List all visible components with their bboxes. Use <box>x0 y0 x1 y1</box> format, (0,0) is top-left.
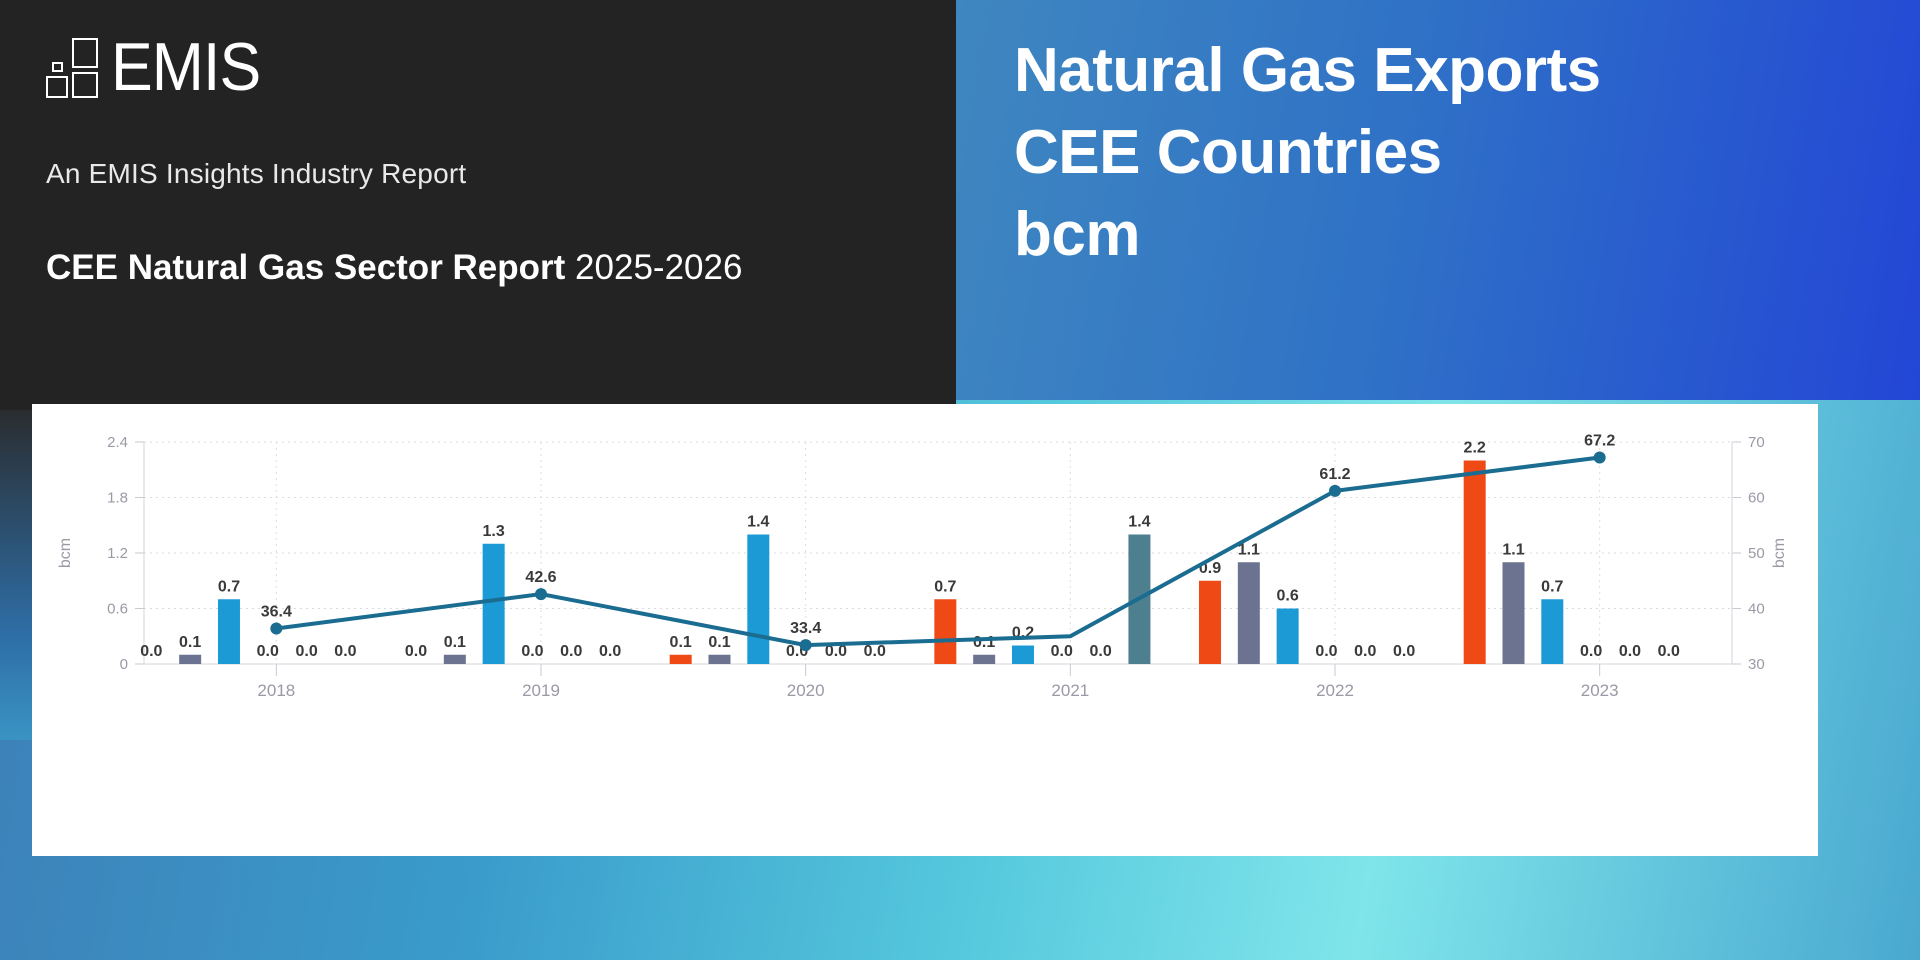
report-title-strong: CEE Natural Gas Sector Report <box>46 248 565 287</box>
chart-card: 00.61.21.82.4304050607020182019202020212… <box>32 404 1818 856</box>
report-title-years: 2025-2026 <box>575 248 742 287</box>
bar-value-label: 0.0 <box>1089 643 1111 660</box>
bar[interactable] <box>1012 646 1034 665</box>
bar-value-label: 0.0 <box>1315 643 1337 660</box>
x-axis-tick-label: 2020 <box>787 681 825 700</box>
bar-value-label: 0.0 <box>1354 643 1376 660</box>
y-axis-right-tick-label: 40 <box>1748 601 1765 618</box>
bar-value-label: 0.0 <box>295 643 317 660</box>
bar[interactable] <box>1277 609 1299 665</box>
line-value-label: 61.2 <box>1319 466 1350 483</box>
line-point[interactable] <box>1329 485 1341 497</box>
chart-plot-area: 00.61.21.82.4304050607020182019202020212… <box>32 414 1818 724</box>
bar[interactable] <box>670 655 692 664</box>
bar-value-label: 0.0 <box>599 643 621 660</box>
x-axis-tick-label: 2021 <box>1051 681 1089 700</box>
bar-value-label: 1.3 <box>483 523 505 540</box>
line-point[interactable] <box>1594 452 1606 464</box>
slide-title-line-2: CEE Countries <box>1014 112 1601 194</box>
bar-value-label: 0.6 <box>1277 588 1299 605</box>
bar-value-label: 0.0 <box>1051 643 1073 660</box>
bar-value-label: 0.0 <box>1393 643 1415 660</box>
bar[interactable] <box>444 655 466 664</box>
bar-value-label: 0.0 <box>1619 643 1641 660</box>
y-axis-right-title: bcm <box>1771 538 1788 568</box>
bar-value-label: 0.1 <box>179 634 201 651</box>
bar-value-label: 0.1 <box>708 634 730 651</box>
bar[interactable] <box>747 535 769 665</box>
chart-svg: 00.61.21.82.4304050607020182019202020212… <box>32 414 1818 744</box>
line-point[interactable] <box>270 622 282 634</box>
x-axis-tick-label: 2022 <box>1316 681 1354 700</box>
bar-value-label: 0.7 <box>934 578 956 595</box>
bar[interactable] <box>1199 581 1221 664</box>
bar-value-label: 0.1 <box>444 634 466 651</box>
bar-value-label: 0.0 <box>560 643 582 660</box>
bar[interactable] <box>1541 599 1563 664</box>
bar-value-label: 1.1 <box>1502 541 1524 558</box>
y-axis-tick-label: 1.8 <box>107 490 128 507</box>
bar-value-label: 0.7 <box>218 578 240 595</box>
y-axis-right-tick-label: 60 <box>1748 490 1765 507</box>
line-point[interactable] <box>800 639 812 651</box>
y-axis-right-tick-label: 70 <box>1748 434 1765 451</box>
bar-value-label: 0.1 <box>973 634 995 651</box>
y-axis-tick-label: 0.6 <box>107 601 128 618</box>
bar-value-label: 0.7 <box>1541 578 1563 595</box>
slide-title: Natural Gas Exports CEE Countries bcm <box>1014 30 1601 275</box>
x-axis-tick-label: 2018 <box>257 681 295 700</box>
bar[interactable] <box>218 599 240 664</box>
bar-value-label: 0.0 <box>864 643 886 660</box>
bar-value-label: 0.0 <box>405 643 427 660</box>
bar[interactable] <box>483 544 505 664</box>
slide-root: EMIS An EMIS Insights Industry Report CE… <box>0 0 1920 960</box>
line-value-label: 36.4 <box>261 603 292 620</box>
line-value-label: 42.6 <box>525 569 556 586</box>
slide-title-line-3: bcm <box>1014 194 1601 276</box>
bar[interactable] <box>179 655 201 664</box>
logo-wordmark: EMIS <box>111 38 260 98</box>
emis-squares-logo-icon <box>46 38 108 98</box>
bar-value-label: 0.0 <box>140 643 162 660</box>
bar-value-label: 0.0 <box>334 643 356 660</box>
y-axis-tick-label: 1.2 <box>107 545 128 562</box>
bar-value-label: 1.4 <box>747 514 769 531</box>
header-dark-panel: EMIS An EMIS Insights Industry Report CE… <box>0 0 956 410</box>
bar-value-label: 1.4 <box>1128 514 1150 531</box>
bar-value-label: 0.0 <box>1658 643 1680 660</box>
bar[interactable] <box>708 655 730 664</box>
x-axis-tick-label: 2019 <box>522 681 560 700</box>
bar-value-label: 0.1 <box>670 634 692 651</box>
slide-title-line-1: Natural Gas Exports <box>1014 30 1601 112</box>
bar-value-label: 2.2 <box>1464 440 1486 457</box>
report-tagline: An EMIS Insights Industry Report <box>46 158 466 190</box>
y-axis-tick-label: 0 <box>120 656 128 673</box>
bar-value-label: 0.0 <box>521 643 543 660</box>
y-axis-right-tick-label: 30 <box>1748 656 1765 673</box>
x-axis-tick-label: 2023 <box>1581 681 1619 700</box>
bar[interactable] <box>973 655 995 664</box>
line-value-label: 33.4 <box>790 620 821 637</box>
bar[interactable] <box>1464 461 1486 665</box>
y-axis-tick-label: 2.4 <box>107 434 128 451</box>
emis-logo: EMIS <box>46 38 273 98</box>
line-point[interactable] <box>535 588 547 600</box>
line-value-label: 67.2 <box>1584 433 1615 450</box>
y-axis-title: bcm <box>57 538 74 568</box>
bar[interactable] <box>1502 562 1524 664</box>
bar[interactable] <box>934 599 956 664</box>
report-title-line: CEE Natural Gas Sector Report 2025-2026 <box>46 248 742 288</box>
bar[interactable] <box>1238 562 1260 664</box>
bar-value-label: 0.0 <box>257 643 279 660</box>
bar-value-label: 0.0 <box>1580 643 1602 660</box>
y-axis-right-tick-label: 50 <box>1748 545 1765 562</box>
